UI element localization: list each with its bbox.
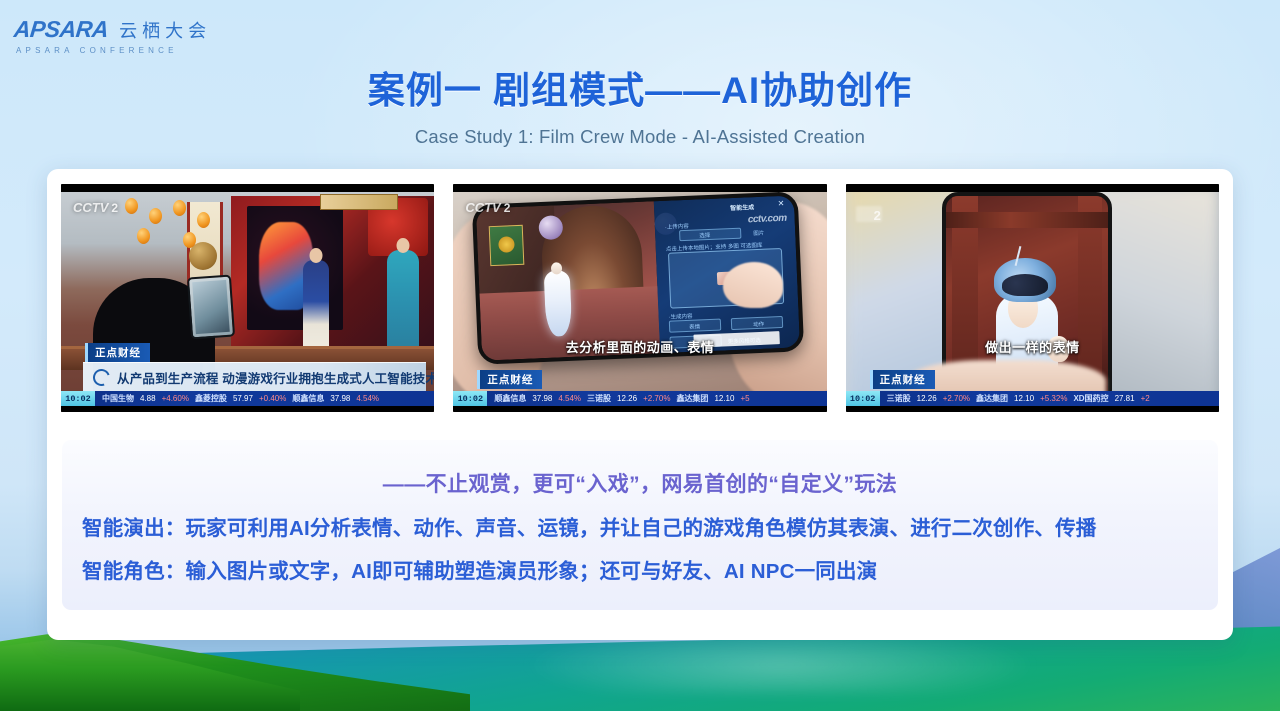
lantern-icon — [173, 200, 186, 216]
callout-line-2: 智能演出：玩家可利用AI分析表情、动作、声音、运镜，并让自己的游戏角色模仿其表演… — [78, 511, 1202, 541]
performer-head — [397, 238, 410, 253]
performer-teal — [387, 250, 419, 352]
logo-chinese-name: 云栖大会 — [119, 17, 211, 43]
burned-in-caption: 做出一样的表情 — [846, 337, 1219, 356]
logo-wordmark: APSARA — [13, 16, 110, 43]
ticker-change: 4.54% — [558, 394, 581, 403]
ticker-name: 鑫达集团 — [976, 393, 1008, 404]
ticker-change: 4.54% — [356, 394, 379, 403]
ticker-clock: 10:02 — [846, 391, 880, 406]
ticker-change: +5 — [740, 394, 749, 403]
ticker-value: 37.98 — [330, 394, 350, 403]
headline-text: 从产品到生产流程 动漫游戏行业拥抱生成式人工智能技术 — [117, 368, 434, 387]
news-lower-third: 正点财经 10:02 顺鑫信息 37.98 4.54% 三诺股 12.26 +2… — [453, 370, 826, 406]
program-tag: 正点财经 — [870, 370, 935, 389]
ticker-clock: 10:02 — [61, 391, 95, 406]
lantern-icon — [197, 212, 210, 228]
cctv-channel-bug: CCTV 2 — [73, 200, 118, 215]
letterbox-top — [453, 184, 826, 192]
ticker-value: 12.10 — [1014, 394, 1034, 403]
gallery-item-ai-character-result[interactable]: 2 做出一样的表情 正点财经 10:02 三诺股 12.26 +2.70% 鑫达… — [846, 184, 1219, 412]
ticker-change: +5.32% — [1040, 394, 1067, 403]
ticker-change: +2.70% — [943, 394, 970, 403]
pointing-finger — [723, 262, 783, 308]
ticker-items: 三诺股 12.26 +2.70% 鑫达集团 12.10 +5.32% XD国药控… — [880, 393, 1219, 404]
lantern-icon — [183, 232, 196, 248]
news-lower-third: 正点财经 10:02 三诺股 12.26 +2.70% 鑫达集团 12.10 +… — [846, 370, 1219, 406]
booth-sign — [320, 194, 398, 210]
program-tag: 正点财经 — [477, 370, 542, 389]
ticker-value: 57.97 — [233, 394, 253, 403]
ticker-value: 27.81 — [1115, 394, 1135, 403]
ticker-name: 三诺股 — [587, 393, 611, 404]
gallery-item-phone-game-editor[interactable]: 智能生成 ✕ cctv.com ·上传内容 选择 图片 点击上传本地图片；支持 … — [453, 184, 826, 412]
game-character — [544, 270, 573, 337]
stock-ticker: 10:02 三诺股 12.26 +2.70% 鑫达集团 12.10 +5.32%… — [846, 391, 1219, 406]
ticker-name: 顺鑫信息 — [494, 393, 526, 404]
apsara-conference-logo: APSARA 云栖大会 APSARA CONFERENCE — [14, 16, 211, 55]
program-tag: 正点财经 — [85, 343, 150, 362]
style-button-label: 表情 — [689, 322, 700, 330]
ticker-clock: 10:02 — [453, 391, 487, 406]
letterbox-top — [846, 184, 1219, 192]
lantern-row — [123, 194, 233, 258]
burned-in-caption: 去分析里面的动画、表情 — [453, 337, 826, 356]
ticker-change: +4.60% — [162, 394, 189, 403]
ticker-value: 37.98 — [532, 394, 552, 403]
count-label: 图片 — [753, 229, 764, 237]
ticker-value: 12.26 — [917, 394, 937, 403]
letterbox-top — [61, 184, 434, 192]
recording-phone — [187, 275, 235, 340]
ticker-value: 12.10 — [714, 394, 734, 403]
opera-headdress — [994, 258, 1056, 302]
page-title: 案例一 剧组模式——AI协助创作 — [0, 60, 1280, 114]
logo-primary-row: APSARA 云栖大会 — [14, 16, 211, 43]
cctv-channel-number: 2 — [111, 201, 118, 215]
logo-subtitle: APSARA CONFERENCE — [14, 46, 211, 55]
callout-line-1: ——不止观赏，更可“入戏”，网易首创的“自定义”玩法 — [78, 468, 1202, 498]
cctv-channel-number: 2 — [874, 208, 881, 223]
screenshot-gallery: CCTV 2 正点财经 从产品到生产流程 动漫游戏行业拥抱生成式人工智能技术 1… — [61, 184, 1219, 412]
ticker-change: +0.40% — [259, 394, 286, 403]
ticker-name: 顺鑫信息 — [292, 393, 324, 404]
headline-bar: 从产品到生产流程 动漫游戏行业拥抱生成式人工智能技术 — [83, 362, 426, 391]
cctv-channel-bug: CCTV 2 — [465, 200, 510, 215]
ticker-change: +2 — [1141, 394, 1150, 403]
lantern-icon — [137, 228, 150, 244]
ticker-value: 12.26 — [617, 394, 637, 403]
panel-title: 智能生成 — [730, 202, 754, 212]
green-banner — [489, 225, 525, 266]
ticker-name: 鑫达集团 — [676, 393, 708, 404]
ticker-name: XD国药控 — [1073, 393, 1108, 404]
callout-line-3: 智能角色：输入图片或文字，AI即可辅助塑造演员形象；还可与好友、AI NPC一同… — [78, 554, 1202, 584]
close-icon[interactable]: ✕ — [777, 200, 785, 208]
ceiling-beam — [946, 212, 1108, 228]
cctv-wordmark: CCTV — [73, 200, 108, 215]
news-lower-third: 正点财经 从产品到生产流程 动漫游戏行业拥抱生成式人工智能技术 10:02 中国… — [61, 343, 434, 406]
ticker-items: 中国生物 4.88 +4.60% 鑫菱控股 57.97 +0.40% 顺鑫信息 … — [95, 393, 434, 404]
cctv-wordmark: CCTV — [465, 200, 500, 215]
style-button-label: 动作 — [753, 320, 764, 328]
performer-blue — [303, 260, 329, 352]
gallery-item-stage-performance[interactable]: CCTV 2 正点财经 从产品到生产流程 动漫游戏行业拥抱生成式人工智能技术 1… — [61, 184, 434, 412]
letterbox-bottom — [453, 406, 826, 412]
letterbox-bottom — [61, 406, 434, 412]
ticker-name: 鑫菱控股 — [195, 393, 227, 404]
ticker-name: 三诺股 — [887, 393, 911, 404]
select-value: 选择 — [700, 231, 711, 239]
broadcaster-logo-icon — [90, 366, 113, 389]
ticker-change: +2.70% — [643, 394, 670, 403]
letterbox-bottom — [846, 406, 1219, 412]
page-subtitle: Case Study 1: Film Crew Mode - AI-Assist… — [0, 126, 1280, 148]
cctv-watermark: cctv.com — [748, 213, 787, 226]
ticker-name: 中国生物 — [102, 393, 134, 404]
callout-panel: ——不止观赏，更可“入戏”，网易首创的“自定义”玩法 智能演出：玩家可利用AI分… — [62, 440, 1218, 610]
stock-ticker: 10:02 中国生物 4.88 +4.60% 鑫菱控股 57.97 +0.40%… — [61, 391, 434, 406]
performer-head — [310, 248, 323, 263]
ticker-value: 4.88 — [140, 394, 156, 403]
lantern-icon — [149, 208, 162, 224]
lantern-icon — [125, 198, 138, 214]
slide-header: 案例一 剧组模式——AI协助创作 Case Study 1: Film Crew… — [0, 60, 1280, 148]
ticker-items: 顺鑫信息 37.98 4.54% 三诺股 12.26 +2.70% 鑫达集团 1… — [487, 393, 826, 404]
cctv-channel-number: 2 — [504, 201, 511, 215]
select-field[interactable] — [679, 228, 741, 242]
stock-ticker: 10:02 顺鑫信息 37.98 4.54% 三诺股 12.26 +2.70% … — [453, 391, 826, 406]
